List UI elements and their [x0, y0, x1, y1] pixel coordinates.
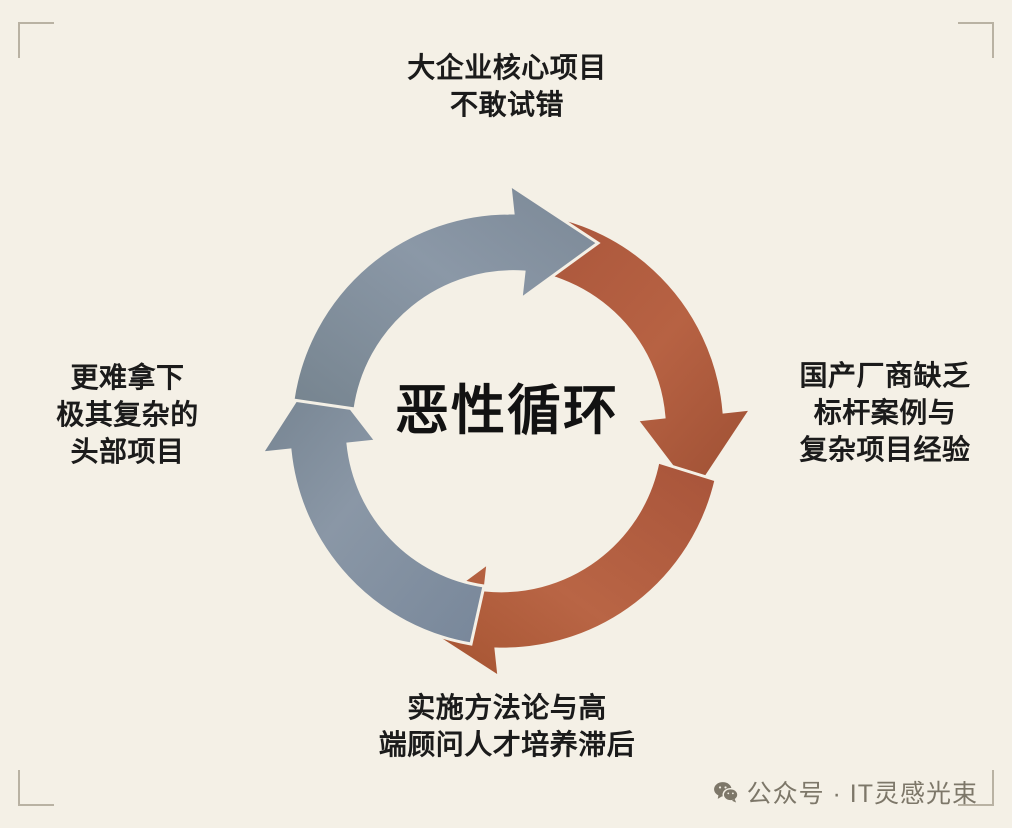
watermark-text: 公众号 · IT灵感光束 — [747, 774, 978, 810]
diagram-canvas: 恶性循环 大企业核心项目 不敢试错 国产厂商缺乏 标杆案例与 复杂项目经验 实施… — [0, 0, 1012, 828]
wechat-icon — [713, 781, 739, 803]
cycle-node-top-label: 大企业核心项目 不敢试错 — [352, 50, 662, 124]
frame-corner-top-right — [958, 22, 994, 58]
cycle-node-bottom-label: 实施方法论与高 端顾问人才培养滞后 — [352, 690, 662, 764]
watermark: 公众号 · IT灵感光束 — [713, 774, 978, 810]
frame-corner-top-left — [18, 22, 54, 58]
cycle-node-right-label: 国产厂商缺乏 标杆案例与 复杂项目经验 — [770, 358, 1000, 469]
arc-right-to-bottom — [411, 462, 716, 677]
arc-left-to-top — [293, 185, 598, 409]
cycle-center-label: 恶性循环 — [342, 382, 672, 441]
cycle-node-left-label: 更难拿下 极其复杂的 头部项目 — [20, 360, 235, 471]
frame-corner-bottom-left — [18, 770, 54, 806]
